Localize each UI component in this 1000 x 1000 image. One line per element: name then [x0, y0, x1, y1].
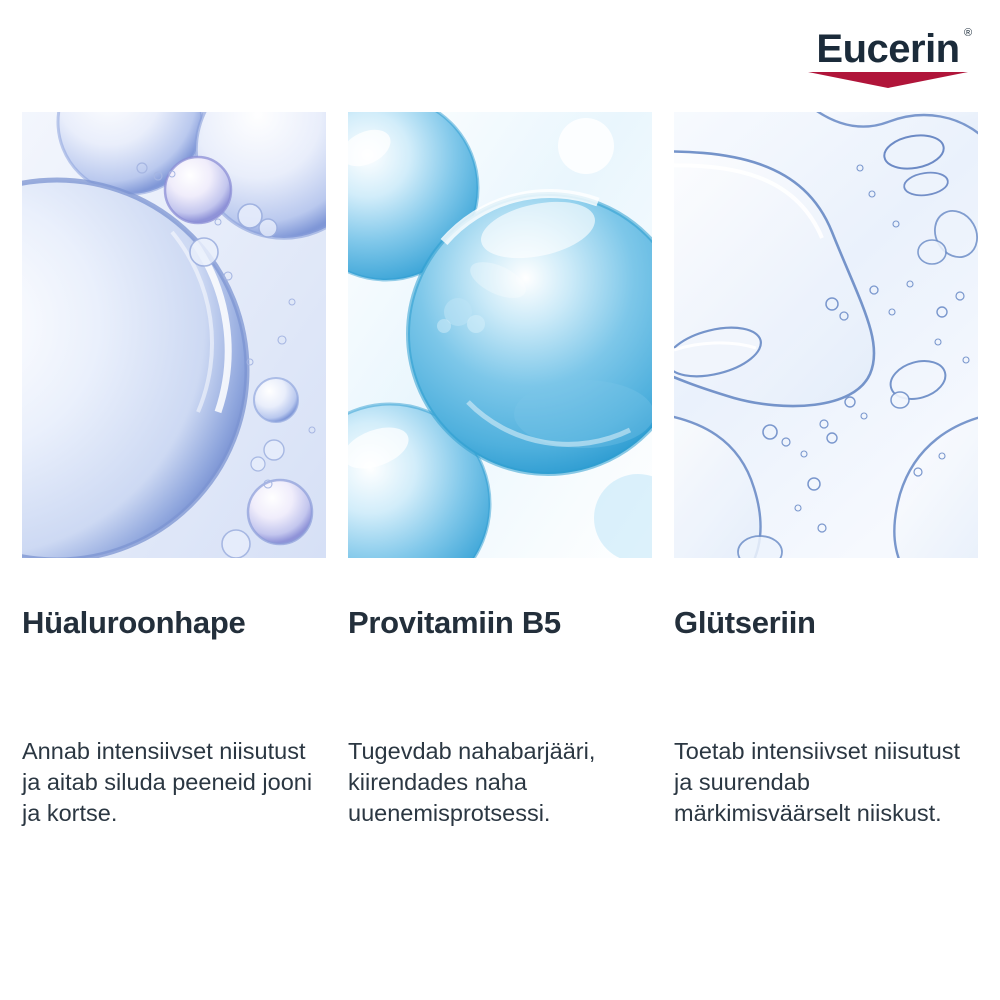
ingredient-description-provitamin-b5: Tugevdab nahabarjääri, kiirendades naha …: [348, 736, 652, 829]
brand-name: Eucerin: [816, 27, 959, 71]
ingredient-title-provitamin-b5: Provitamiin B5: [348, 604, 652, 642]
ingredient-description-hyaluronic-acid: Annab intensiivset niisutust ja aitab si…: [22, 736, 326, 829]
ingredient-title-hyaluronic-acid: Hüaluroonhape: [22, 604, 326, 642]
registered-trademark-icon: ®: [964, 28, 972, 39]
ingredient-image-row: [22, 112, 978, 558]
heading-cell-provitamin-b5: Provitamiin B5: [348, 604, 652, 642]
panel-image-glycerin: [674, 112, 978, 558]
bubbles-cyan-image: [348, 112, 652, 558]
bubbles-periwinkle-image: [22, 112, 326, 558]
heading-cell-glycerin: Glütseriin: [674, 604, 978, 642]
body-cell-hyaluronic-acid: Annab intensiivset niisutust ja aitab si…: [22, 736, 326, 829]
eucerin-logo: Eucerin®: [798, 28, 978, 86]
panel-image-provitamin-b5: [348, 112, 652, 558]
ingredient-heading-row: Hüaluroonhape Provitamiin B5 Glütseriin: [22, 604, 978, 642]
panel-image-hyaluronic-acid: [22, 112, 326, 558]
body-cell-provitamin-b5: Tugevdab nahabarjääri, kiirendades naha …: [348, 736, 652, 829]
brand-wordmark: Eucerin®: [816, 28, 959, 70]
bubbles-clear-image: [674, 112, 978, 558]
body-cell-glycerin: Toetab intensiivset niisutust ja suurend…: [674, 736, 978, 829]
ingredient-description-glycerin: Toetab intensiivset niisutust ja suurend…: [674, 736, 978, 829]
ingredient-title-glycerin: Glütseriin: [674, 604, 978, 642]
heading-cell-hyaluronic-acid: Hüaluroonhape: [22, 604, 326, 642]
eucerin-chevron-icon: [808, 72, 968, 88]
ingredient-description-row: Annab intensiivset niisutust ja aitab si…: [22, 736, 978, 829]
